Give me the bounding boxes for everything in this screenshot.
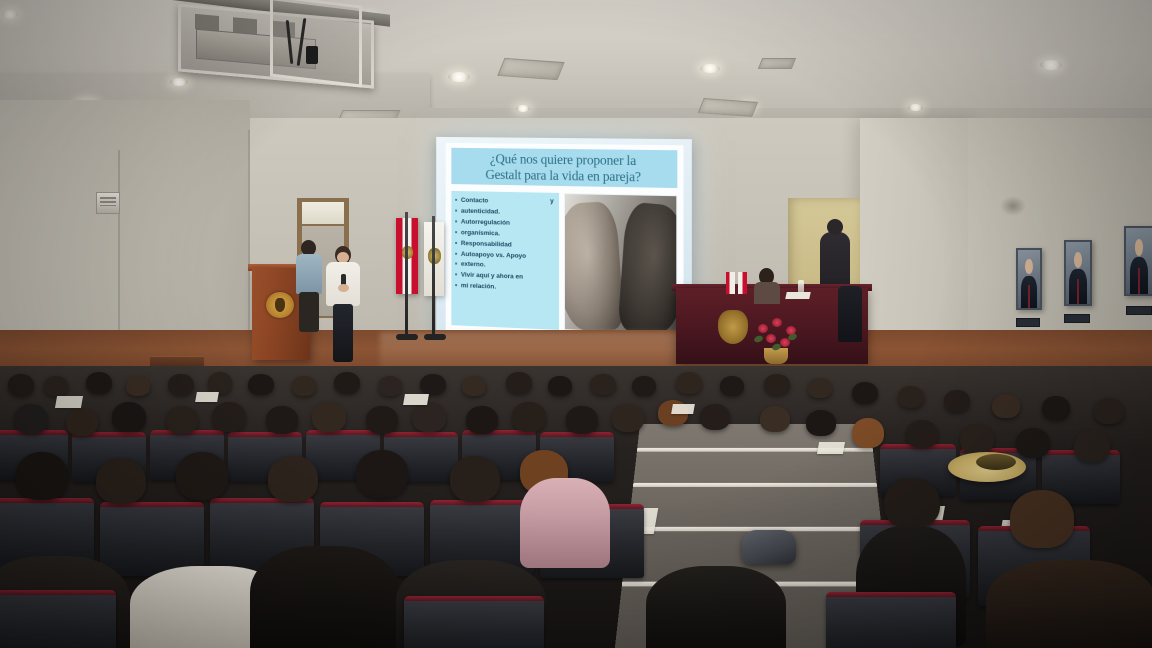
attendee-head (66, 408, 98, 436)
attendee-head (166, 406, 198, 434)
attendee-head (512, 402, 546, 432)
chair (838, 286, 862, 342)
slide-bullet-box: y Contacto autenticidad. Autorregulación… (451, 191, 558, 330)
attendee-head (356, 450, 408, 498)
attendee-head (420, 374, 446, 395)
documents (785, 292, 810, 299)
panelist-seated (754, 268, 780, 300)
portrait-tie (1077, 279, 1079, 304)
ceiling-vent (758, 58, 796, 69)
slide-bullet-list: Contacto autenticidad. Autorregulación o… (455, 196, 555, 294)
photo-shading (565, 194, 677, 334)
downlight (700, 64, 720, 73)
attendee-head (212, 402, 246, 432)
attendee-head (808, 378, 832, 398)
downlight (516, 105, 530, 112)
flag-pole (432, 216, 435, 336)
downlight (1040, 60, 1062, 70)
institutional-crest-icon (266, 292, 294, 318)
flower (786, 326, 796, 335)
portrait-nameplate (1064, 314, 1090, 323)
attendee-head (676, 372, 702, 394)
leaf (753, 335, 764, 344)
portrait-tie (1138, 268, 1140, 294)
attendee-head (884, 478, 940, 528)
two-faces-profile-photo (564, 193, 678, 335)
attendee-paper (671, 404, 695, 414)
attendee-head (760, 406, 790, 432)
attendee-head (806, 410, 836, 436)
attendee-head (1042, 396, 1070, 420)
vase (764, 348, 788, 364)
attendee-head (612, 404, 644, 432)
flag-base (424, 334, 446, 340)
attendee-head (378, 376, 402, 396)
attendee-head (86, 372, 112, 394)
downlight (170, 78, 188, 86)
wall-scuff-mark (1000, 196, 1026, 216)
portrait-nameplate (1016, 318, 1040, 327)
backpack-on-step (742, 530, 796, 564)
attendee-head (16, 452, 68, 500)
flag-pole (405, 212, 408, 336)
portrait-face (1025, 259, 1032, 274)
wall-mounted-fixture (96, 192, 120, 214)
attendee-shoulders (986, 560, 1152, 648)
step-nosing (633, 483, 877, 487)
projector-mount-bracket (270, 0, 362, 88)
downlight (908, 104, 923, 111)
attendee-head (168, 374, 194, 395)
flag-base (396, 334, 418, 340)
attendee-head (566, 406, 598, 434)
attendee-head (268, 456, 318, 502)
attendee-head (208, 372, 232, 394)
slide-title: ¿Qué nos quiere proponer la Gestalt para… (451, 148, 677, 189)
list-item-cont: mi relación. (455, 281, 555, 294)
list-item-cont: autenticidad. (455, 207, 555, 219)
portrait-face (1135, 239, 1144, 256)
attendee-head (506, 372, 532, 394)
attendee-head (944, 390, 970, 412)
attendee-head (1094, 398, 1124, 424)
downlight (2, 10, 18, 19)
attendee-head (960, 424, 994, 454)
mini-flag (738, 272, 747, 294)
attendee-head (112, 402, 146, 432)
flower (766, 334, 776, 343)
attendee-paper (195, 392, 219, 402)
attendee-head (1010, 490, 1074, 548)
assistant-lower (299, 292, 319, 332)
attendee-head (266, 406, 298, 434)
mini-flag (726, 272, 735, 294)
attendee-head (1016, 428, 1050, 458)
portrait-face (1074, 252, 1082, 268)
projection-screen: ¿Qué nos quiere proponer la Gestalt para… (436, 137, 692, 352)
attendee-shoulders (646, 566, 786, 648)
attendee-head (466, 406, 498, 434)
attendee-shoulders (520, 478, 610, 568)
flower (780, 338, 790, 347)
flower (772, 318, 782, 327)
panelist-body (754, 282, 780, 304)
auditorium-scene: ¿Qué nos quiere proponer la Gestalt para… (0, 0, 1152, 648)
straw-hat-attendee (948, 452, 1026, 482)
attendee-paper (55, 396, 83, 408)
attendee-shoulders (250, 546, 400, 648)
auditorium-seat[interactable] (826, 592, 956, 648)
flower-arrangement (744, 318, 810, 364)
attendee-head (898, 386, 924, 408)
attendee-head (44, 376, 68, 396)
presenter-hand (338, 284, 349, 292)
attendee-head (450, 456, 500, 502)
attendee-head (548, 376, 572, 396)
attendee-head (632, 376, 656, 396)
presentation-slide: ¿Qué nos quiere proponer la Gestalt para… (446, 143, 684, 342)
attendee-head (992, 394, 1020, 418)
attendee-head (462, 376, 486, 396)
wall-portrait-3 (1124, 226, 1152, 296)
attendee-head (412, 402, 446, 432)
projector-cable (306, 46, 318, 64)
presenter-white-coat-with-microphone (326, 246, 360, 362)
attendee-head (1074, 430, 1110, 462)
door-window (302, 202, 344, 224)
attendee-head (96, 458, 146, 504)
attendee-head (126, 376, 150, 396)
attendee-head (906, 420, 938, 448)
wall-portrait-1 (1016, 248, 1042, 310)
attendee-head (720, 376, 744, 396)
attendee-head (852, 418, 884, 448)
wall-seam (248, 130, 250, 360)
auditorium-seat[interactable] (0, 590, 116, 648)
attendee-paper (817, 442, 845, 454)
attendee-head (590, 374, 616, 395)
list-item: Autorregulación (455, 217, 555, 229)
attendee-head (8, 374, 34, 396)
attendee-head (366, 406, 398, 434)
flower (758, 324, 768, 333)
slide-body: y Contacto autenticidad. Autorregulación… (451, 191, 677, 335)
attendee-head (764, 374, 790, 395)
attendee-head (176, 452, 228, 500)
assistant-standing (296, 240, 322, 330)
presenter-legs (333, 304, 353, 362)
attendee-head (14, 404, 48, 434)
attendee-head (248, 374, 274, 395)
attendee-head (312, 402, 346, 432)
attendee-head (292, 376, 316, 396)
slide-title-line-2: Gestalt para la vida en pareja? (453, 166, 675, 185)
list-item: Contacto (455, 196, 555, 207)
attendee-head (334, 372, 360, 394)
portrait-tie (1028, 285, 1030, 308)
attendee-paper (403, 394, 429, 405)
downlight (448, 72, 470, 82)
auditorium-seat[interactable] (404, 596, 544, 648)
wall-portrait-2 (1064, 240, 1092, 306)
attendee-head (852, 382, 878, 404)
assistant-body (296, 254, 322, 294)
portrait-nameplate (1126, 306, 1152, 315)
attendee-head (700, 404, 730, 430)
auditorium-seat[interactable] (100, 502, 204, 576)
